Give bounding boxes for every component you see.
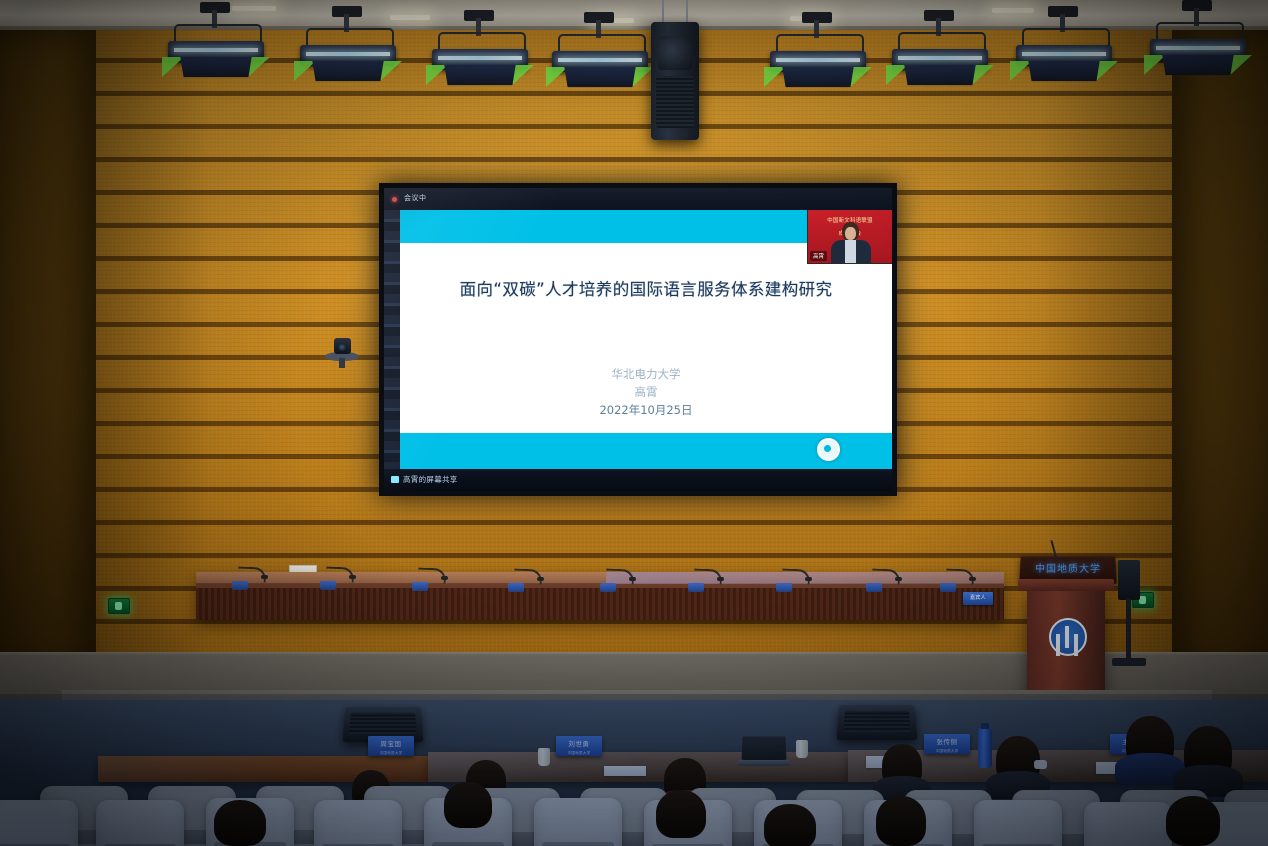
- stage-light-4: [552, 34, 648, 90]
- water-bottle: [978, 728, 992, 768]
- stage-light-7: [1016, 28, 1112, 84]
- video-client-participant-strip[interactable]: [384, 210, 400, 469]
- light-front-panel: [564, 67, 635, 87]
- mic-base: [940, 583, 956, 592]
- audience-person-d: [996, 736, 1040, 784]
- screen-share-icon: [391, 476, 399, 483]
- mic-capsule: [261, 575, 268, 579]
- mic-base: [320, 581, 336, 590]
- person-hair: [214, 800, 266, 846]
- podium-confidence-monitor: [1118, 560, 1140, 600]
- light-barn-door-right: [972, 65, 994, 85]
- paper-cup-1: [538, 748, 550, 766]
- stage-light-8: [1150, 22, 1246, 78]
- light-barn-door-right: [248, 57, 270, 77]
- head-table-microphone-8: [866, 568, 900, 592]
- thumbnail-speaker-shirt: [845, 240, 856, 264]
- audience-placard-1-label: 周宝国: [368, 736, 414, 752]
- light-barn-door-right: [1230, 55, 1252, 75]
- speaker-video-thumbnail[interactable]: 中国新文科语联盟 成立大会 高霄: [807, 210, 892, 264]
- audience-person-f: [1184, 726, 1232, 780]
- audience-seat-r0-1: [0, 800, 78, 846]
- mic-capsule: [349, 575, 356, 579]
- audience-placard-1: 周宝国 中国地质大学: [368, 736, 414, 756]
- mic-capsule: [441, 576, 448, 580]
- video-client-status-label: 会议中: [404, 193, 427, 203]
- audience-placard-2: 刘世勇 中国地质大学: [556, 736, 602, 756]
- light-front-panel: [444, 65, 515, 85]
- speaker-podium: [1027, 588, 1105, 700]
- stage-light-6: [892, 32, 988, 88]
- face-mask: [1034, 760, 1047, 769]
- audience-placard-1-sub: 中国地质大学: [368, 751, 414, 755]
- audience-person-e: [1126, 716, 1174, 768]
- video-client-top-bar: 会议中: [384, 188, 892, 210]
- podium-top: [1018, 579, 1114, 591]
- video-client-bottom-bar: 高霄的屏幕共享: [384, 469, 892, 491]
- left-wall-shadow: [0, 30, 210, 670]
- light-front-panel: [180, 57, 251, 77]
- person-hair: [876, 796, 926, 846]
- audience-person-front-1: [214, 800, 266, 846]
- thumbnail-name-tag: 高霄: [810, 251, 827, 261]
- monitor-foot: [1112, 658, 1146, 666]
- head-table-skirt: [196, 588, 1004, 620]
- conference-hall-scene: 会议中 面向“双碳”人才培养的国际语言服务体系建构研究 华北电力大学 高霄 20…: [0, 0, 1268, 846]
- floor-monitor-right: [837, 705, 918, 740]
- slide-corner-logo-icon: [817, 438, 840, 461]
- screen-share-label: 高霄的屏幕共享: [403, 474, 458, 485]
- mic-capsule: [969, 577, 976, 581]
- laptop-deck: [738, 760, 790, 766]
- head-table-microphone-6: [688, 568, 722, 592]
- light-lens: [558, 58, 642, 62]
- mic-capsule: [537, 577, 544, 581]
- stage-placard-1-label: 嘉宾人: [963, 592, 993, 605]
- mic-capsule: [805, 577, 812, 581]
- paper-cup-2: [796, 740, 808, 758]
- head-table-microphone-3: [412, 567, 446, 591]
- light-lens: [174, 48, 258, 52]
- mic-base: [688, 583, 704, 592]
- audience-seat-r0-6: [534, 798, 622, 846]
- audience-seat-r0-10: [974, 800, 1062, 846]
- screen-content: 会议中 面向“双碳”人才培养的国际语言服务体系建构研究 华北电力大学 高霄 20…: [384, 188, 892, 491]
- head-table-microphone-9: [940, 568, 974, 592]
- audience-placard-3-label: 张传侧: [924, 734, 970, 750]
- audience-placard-2-sub: 中国地质大学: [556, 751, 602, 755]
- light-lens: [438, 56, 522, 60]
- light-lens: [1156, 46, 1240, 50]
- stage-light-5: [770, 34, 866, 90]
- head-table-microphone-5: [600, 568, 634, 592]
- mic-base: [776, 583, 792, 592]
- audience-person-front-4: [764, 804, 816, 846]
- slide-presenter: 高霄: [400, 384, 892, 400]
- light-front-panel: [904, 65, 975, 85]
- mic-base: [412, 582, 428, 591]
- university-emblem-icon: [1049, 618, 1087, 656]
- laptop-on-table[interactable]: [738, 736, 790, 766]
- audience-person-front-2: [444, 782, 492, 828]
- monitor-stem: [1126, 598, 1131, 660]
- stage-light-1: [168, 24, 264, 80]
- mic-capsule: [717, 577, 724, 581]
- head-table-microphone-4: [508, 568, 542, 592]
- head-table-microphone-1: [232, 566, 266, 590]
- mic-base: [866, 583, 882, 592]
- mic-base: [508, 583, 524, 592]
- head-table-microphone-2: [320, 566, 354, 590]
- stage-light-2: [300, 28, 396, 84]
- light-front-panel: [312, 61, 383, 81]
- audience-seat-r0-4: [314, 800, 402, 846]
- audience-seat-r0-11: [1084, 802, 1172, 846]
- mic-base: [232, 581, 248, 590]
- audience-person-front-6: [1166, 796, 1220, 846]
- light-front-panel: [782, 67, 853, 87]
- slide-title: 面向“双碳”人才培养的国际语言服务体系建构研究: [400, 276, 892, 300]
- document-sheet-1: [604, 766, 646, 776]
- projection-screen[interactable]: 会议中 面向“双碳”人才培养的国际语言服务体系建构研究 华北电力大学 高霄 20…: [379, 183, 897, 496]
- pa-speaker-horn: [658, 36, 692, 70]
- pa-speaker-grille: [656, 76, 694, 128]
- light-lens: [1022, 52, 1106, 56]
- light-lens: [898, 56, 982, 60]
- light-barn-door-right: [380, 61, 402, 81]
- audience-person-front-3: [656, 790, 706, 838]
- ceiling-pa-speaker: [651, 22, 699, 140]
- camera-arm: [339, 358, 345, 368]
- person-hair: [1166, 796, 1220, 846]
- light-front-panel: [1162, 55, 1233, 75]
- mic-capsule: [895, 577, 902, 581]
- stage-light-3: [432, 32, 528, 88]
- person-hair: [444, 782, 492, 828]
- audience-placard-3: 张传侧 中国地质大学: [924, 734, 970, 754]
- light-barn-door-right: [850, 67, 872, 87]
- laptop-lid: [742, 736, 787, 760]
- recording-indicator-icon: [392, 197, 397, 202]
- ceiling-tube-light-1: [232, 6, 276, 11]
- audience-seat-r0-2: [96, 800, 184, 846]
- ceiling-tube-light-2: [390, 15, 430, 20]
- audience-placard-2-label: 刘世勇: [556, 736, 602, 752]
- light-front-panel: [1028, 61, 1099, 81]
- mic-base: [600, 583, 616, 592]
- light-lens: [776, 58, 860, 62]
- head-table-microphone-7: [776, 568, 810, 592]
- stage-placard-1: 嘉宾人: [963, 592, 993, 605]
- thumbnail-speaker-face: [845, 227, 856, 240]
- camera-lens-icon: [338, 343, 346, 351]
- wall-ptz-camera: [325, 336, 359, 366]
- audience-person-c: [882, 744, 922, 788]
- slide-date: 2022年10月25日: [400, 402, 892, 418]
- exit-sign-left: [108, 598, 130, 614]
- ceiling-tube-light-5: [992, 8, 1034, 13]
- person-hair: [764, 804, 816, 846]
- light-lens: [306, 52, 390, 56]
- light-barn-door-right: [1096, 61, 1118, 81]
- audience-person-front-5: [876, 796, 926, 846]
- slide-affiliation: 华北电力大学: [400, 366, 892, 382]
- audience-placard-3-sub: 中国地质大学: [924, 749, 970, 753]
- person-hair: [656, 790, 706, 838]
- light-barn-door-right: [512, 65, 534, 85]
- mic-capsule: [629, 577, 636, 581]
